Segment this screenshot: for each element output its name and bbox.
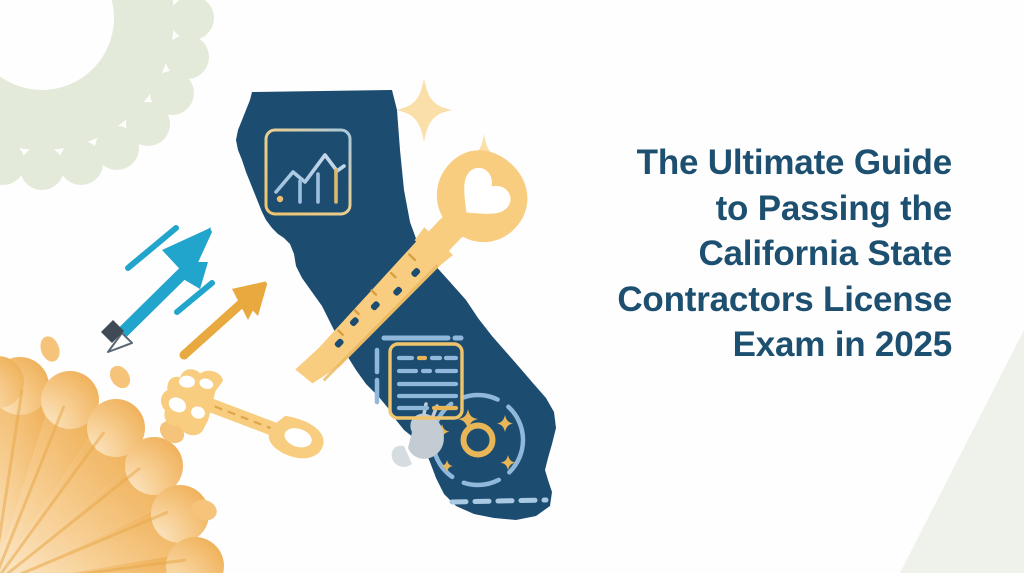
poster-canvas: The Ultimate Guide to Passing the Califo… <box>0 0 1024 573</box>
pencil-arrow-icon <box>101 227 212 352</box>
border-dashes <box>452 500 546 502</box>
page-title: The Ultimate Guide to Passing the Califo… <box>552 140 952 368</box>
